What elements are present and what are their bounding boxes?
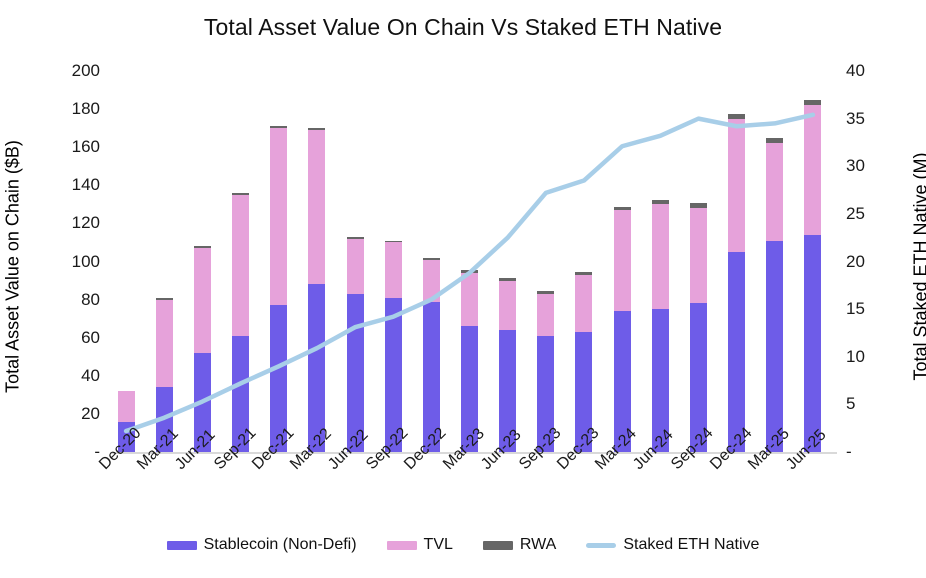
- x-tick-Dec-20: Dec-20: [96, 425, 145, 474]
- legend-label: Stablecoin (Non-Defi): [204, 536, 357, 554]
- legend-label: RWA: [520, 536, 556, 554]
- legend-item-stablecoin-non-defi[interactable]: Stablecoin (Non-Defi): [167, 536, 357, 554]
- x-axis-labels: Dec-20Mar-21Jun-21Sep-21Dec-21Mar-22Jun-…: [0, 0, 926, 578]
- chart-legend: Stablecoin (Non-Defi)TVLRWAStaked ETH Na…: [0, 536, 926, 554]
- x-tick-Sep-22: Sep-22: [363, 425, 412, 474]
- legend-swatch-icon: [167, 541, 197, 550]
- legend-label: TVL: [424, 536, 453, 554]
- legend-item-rwa[interactable]: RWA: [483, 536, 556, 554]
- chart-container: Total Asset Value On Chain Vs Staked ETH…: [0, 0, 926, 578]
- legend-label: Staked ETH Native: [623, 536, 759, 554]
- legend-swatch-icon: [387, 541, 417, 550]
- legend-swatch-icon: [483, 541, 513, 550]
- x-tick-Sep-24: Sep-24: [668, 425, 717, 474]
- x-tick-Sep-23: Sep-23: [516, 425, 565, 474]
- x-tick-Dec-24: Dec-24: [707, 425, 756, 474]
- x-tick-Dec-22: Dec-22: [401, 425, 450, 474]
- x-tick-Sep-21: Sep-21: [211, 425, 260, 474]
- legend-item-tvl[interactable]: TVL: [387, 536, 453, 554]
- legend-line-icon: [586, 543, 616, 548]
- legend-item-staked-eth-native[interactable]: Staked ETH Native: [586, 536, 759, 554]
